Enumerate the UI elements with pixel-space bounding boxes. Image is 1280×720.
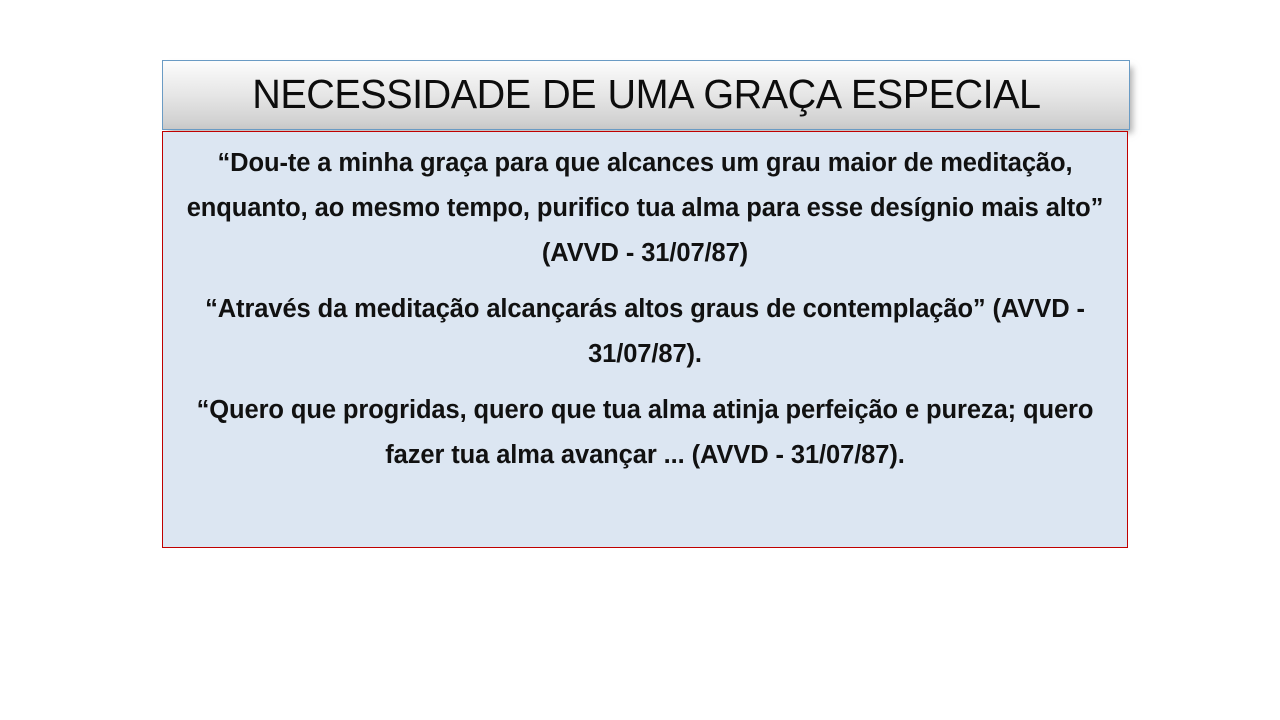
- slide-canvas: NECESSIDADE DE UMA GRAÇA ESPECIAL “Dou-t…: [0, 0, 1280, 720]
- slide-body-placeholder[interactable]: “Dou-te a minha graça para que alcances …: [162, 131, 1128, 548]
- body-paragraph-1: “Dou-te a minha graça para que alcances …: [177, 141, 1113, 276]
- page-title: NECESSIDADE DE UMA GRAÇA ESPECIAL: [252, 74, 1040, 117]
- body-paragraph-3: “Quero que progridas, quero que tua alma…: [177, 388, 1113, 478]
- body-paragraph-2: “Através da meditação alcançarás altos g…: [177, 287, 1113, 377]
- slide-title-placeholder[interactable]: NECESSIDADE DE UMA GRAÇA ESPECIAL: [162, 60, 1130, 130]
